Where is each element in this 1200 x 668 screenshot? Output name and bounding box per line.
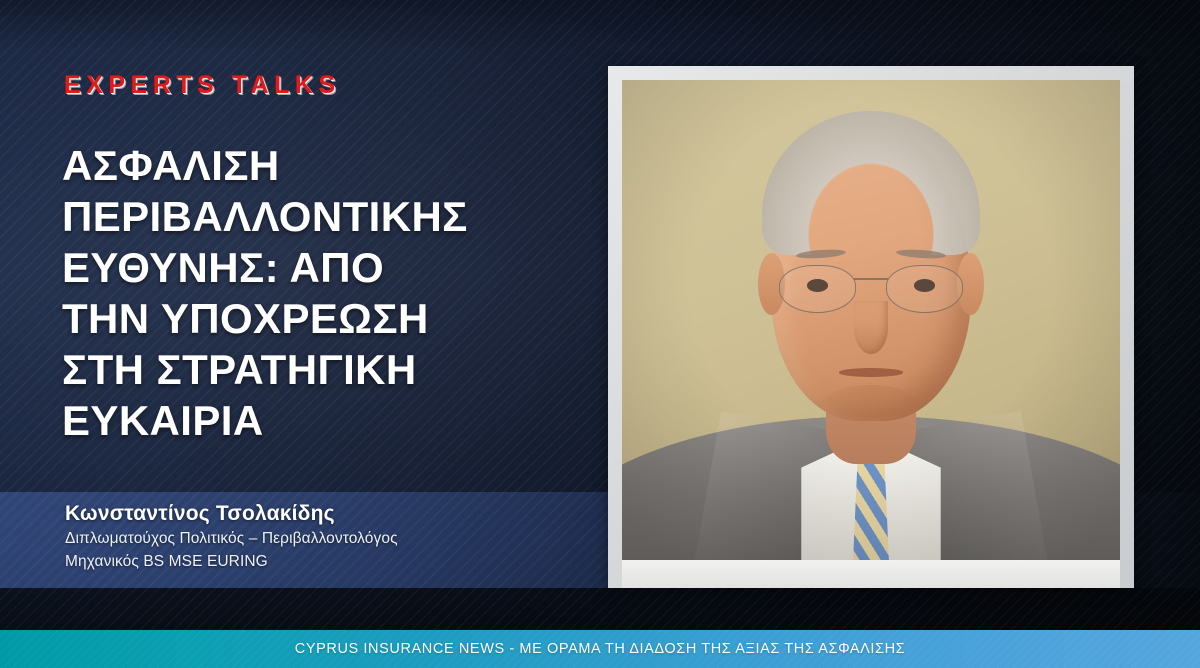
speaker-block: Κωνσταντίνος Τσολακίδης Διπλωματούχος Πο… <box>65 501 585 573</box>
portrait-shading <box>622 80 1120 560</box>
headline-line: ΤΗΝ ΥΠΟΧΡΕΩΣΗ <box>62 293 602 344</box>
headline-line: ΕΥΚΑΙΡΙΑ <box>62 395 602 446</box>
headline-line: ΑΣΦΑΛΙΣΗ <box>62 140 602 191</box>
text-column: EXPERTS TALKS ΑΣΦΑΛΙΣΗ ΠΕΡΙΒΑΛΛΟΝΤΙΚΗΣ Ε… <box>62 0 602 668</box>
headline-line: ΣΤΗ ΣΤΡΑΤΗΓΙΚΗ <box>62 344 602 395</box>
experts-talks-banner: EXPERTS TALKS ΑΣΦΑΛΙΣΗ ΠΕΡΙΒΑΛΛΟΝΤΙΚΗΣ Ε… <box>0 0 1200 668</box>
page-title: ΑΣΦΑΛΙΣΗ ΠΕΡΙΒΑΛΛΟΝΤΙΚΗΣ ΕΥΘΥΝΗΣ: ΑΠΟ ΤΗ… <box>62 140 602 446</box>
portrait-bottom-mat <box>622 560 1120 588</box>
footer-bar: CYPRUS INSURANCE NEWS - ΜΕ ΟΡΑΜΑ ΤΗ ΔΙΑΔ… <box>0 630 1200 668</box>
speaker-name: Κωνσταντίνος Τσολακίδης <box>65 501 585 527</box>
eyebrow-label: EXPERTS TALKS <box>64 71 341 100</box>
speaker-credentials-line-2: Μηχανικός BS MSE EURING <box>65 550 585 573</box>
headline-line: ΠΕΡΙΒΑΛΛΟΝΤΙΚΗΣ <box>62 191 602 242</box>
speaker-portrait-photo <box>622 80 1120 560</box>
speaker-credentials-line-1: Διπλωματούχος Πολιτικός – Περιβαλλοντολό… <box>65 527 585 550</box>
portrait-frame <box>608 66 1134 588</box>
footer-tagline: CYPRUS INSURANCE NEWS - ΜΕ ΟΡΑΜΑ ΤΗ ΔΙΑΔ… <box>295 641 905 657</box>
headline-line: ΕΥΘΥΝΗΣ: ΑΠΟ <box>62 242 602 293</box>
